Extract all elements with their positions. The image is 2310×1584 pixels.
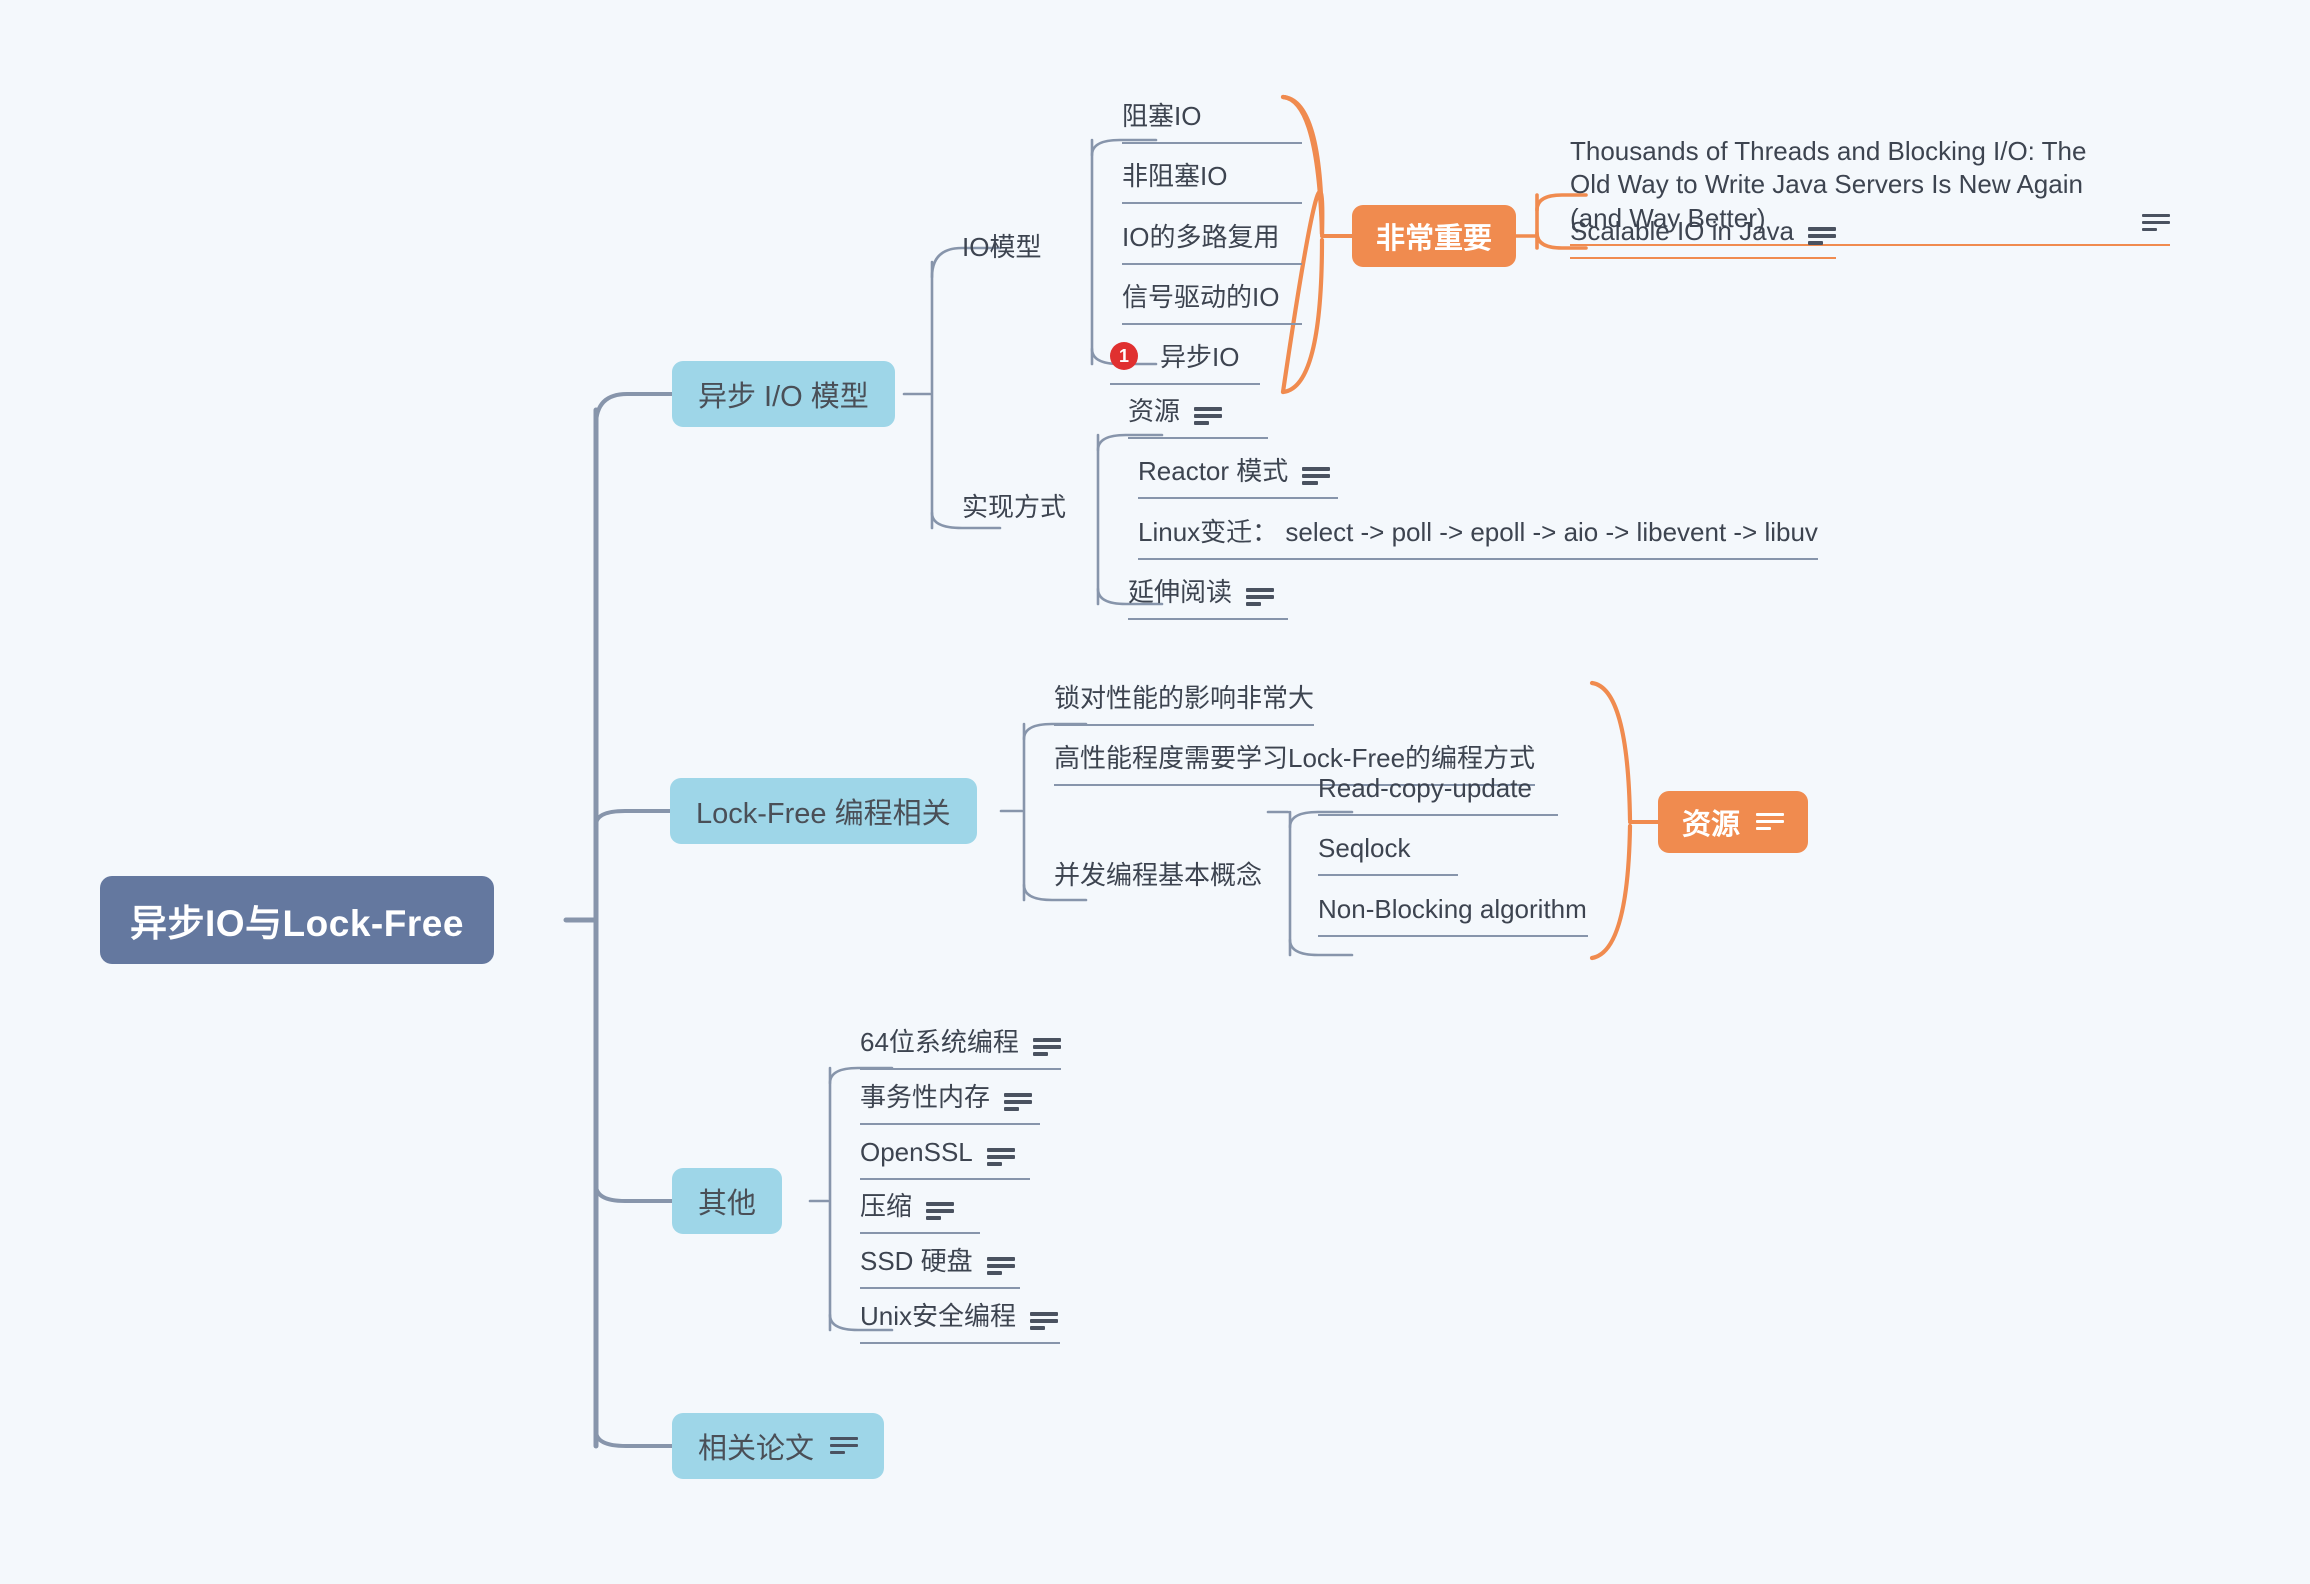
leaf-seqlock[interactable]: Seqlock [1318, 832, 1458, 876]
leaf-async-io[interactable]: 1 异步IO [1110, 341, 1260, 385]
branch-node-papers-label: 相关论文 [698, 1425, 814, 1467]
leaf-openssl[interactable]: OpenSSL [860, 1136, 1030, 1180]
callout-very-important-label: 非常重要 [1376, 215, 1492, 257]
leaf-linux-evolution[interactable]: Linux变迁： select -> poll -> epoll -> aio … [1138, 516, 1818, 560]
leaf-transactional-memory[interactable]: 事务性内存 [860, 1081, 1040, 1125]
badge-priority-1: 1 [1110, 342, 1138, 370]
leaf-reactor-pattern[interactable]: Reactor 模式 [1138, 455, 1338, 499]
note-icon[interactable] [830, 1435, 858, 1455]
leaf-nonblocking-io[interactable]: 非阻塞IO [1122, 160, 1302, 204]
mindmap-canvas: 异步IO与Lock-Free 异步 I/O 模型 IO模型 阻塞IO 非阻塞IO… [0, 0, 2310, 1584]
note-icon[interactable] [987, 1146, 1015, 1166]
root-node[interactable]: 异步IO与Lock-Free [100, 876, 494, 964]
callout-resources[interactable]: 资源 [1658, 791, 1808, 853]
leaf-further-reading[interactable]: 延伸阅读 [1128, 576, 1288, 620]
group-label-concurrency-concepts[interactable]: 并发编程基本概念 [1054, 855, 1262, 892]
note-icon[interactable] [1808, 225, 1836, 245]
leaf-compression[interactable]: 压缩 [860, 1190, 980, 1234]
branch-node-lock-free-label: Lock-Free 编程相关 [696, 790, 951, 832]
note-icon[interactable] [1004, 1091, 1032, 1111]
leaf-64bit-programming[interactable]: 64位系统编程 [860, 1026, 1061, 1070]
leaf-unix-secure-programming[interactable]: Unix安全编程 [860, 1300, 1060, 1344]
group-label-implementation[interactable]: 实现方式 [962, 487, 1066, 524]
note-icon[interactable] [1194, 405, 1222, 425]
branch-node-other-label: 其他 [698, 1180, 756, 1222]
note-icon[interactable] [926, 1200, 954, 1220]
callout-resources-label: 资源 [1682, 801, 1740, 843]
leaf-signal-driven-io[interactable]: 信号驱动的IO [1122, 281, 1302, 325]
note-icon[interactable] [987, 1255, 1015, 1275]
note-icon[interactable] [2142, 212, 2170, 232]
leaf-blocking-io[interactable]: 阻塞IO [1122, 100, 1302, 144]
leaf-io-multiplexing[interactable]: IO的多路复用 [1122, 221, 1302, 265]
branch-node-papers[interactable]: 相关论文 [672, 1413, 884, 1479]
branch-node-other[interactable]: 其他 [672, 1168, 782, 1234]
branch-node-async-io[interactable]: 异步 I/O 模型 [672, 361, 895, 427]
root-node-label: 异步IO与Lock-Free [130, 893, 464, 947]
leaf-ssd-disk[interactable]: SSD 硬盘 [860, 1245, 1020, 1289]
leaf-read-copy-update[interactable]: Read-copy-update [1318, 772, 1558, 816]
leaf-non-blocking-algorithm[interactable]: Non-Blocking algorithm [1318, 893, 1588, 937]
note-icon[interactable] [1756, 811, 1784, 831]
leaf-resources[interactable]: 资源 [1128, 395, 1268, 439]
resource-scalable-io-in-java[interactable]: Scalable IO in Java [1570, 215, 1836, 259]
note-icon[interactable] [1302, 465, 1330, 485]
note-icon[interactable] [1033, 1036, 1061, 1056]
note-icon[interactable] [1246, 586, 1274, 606]
branch-node-async-io-label: 异步 I/O 模型 [698, 373, 869, 415]
callout-very-important[interactable]: 非常重要 [1352, 205, 1516, 267]
note-icon[interactable] [1030, 1310, 1058, 1330]
branch-node-lock-free[interactable]: Lock-Free 编程相关 [670, 778, 977, 844]
leaf-lock-performance-impact[interactable]: 锁对性能的影响非常大 [1054, 682, 1314, 726]
group-label-io-model[interactable]: IO模型 [962, 227, 1041, 264]
